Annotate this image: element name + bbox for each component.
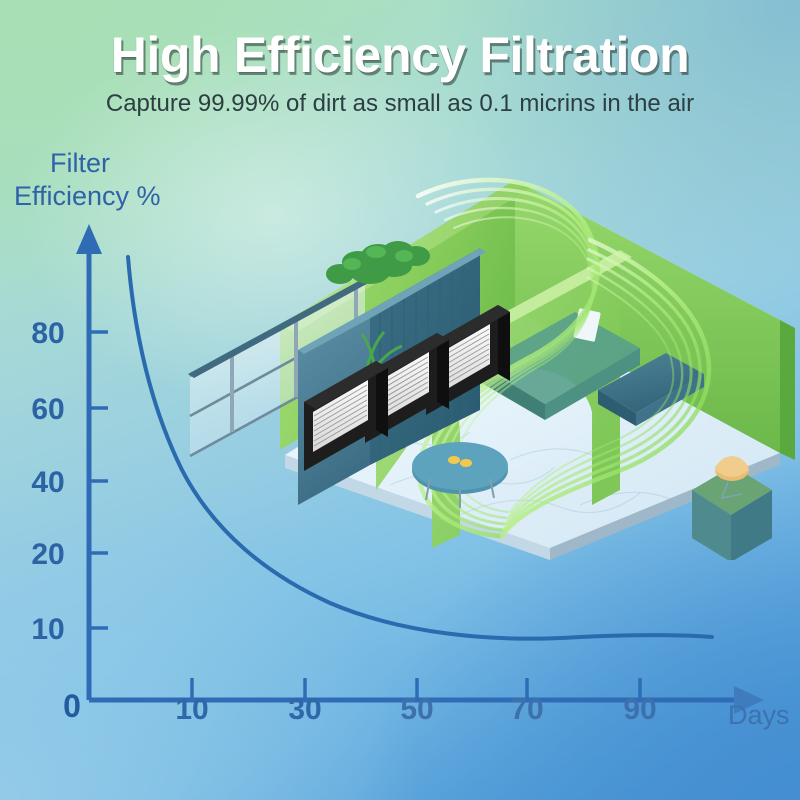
isometric-room-illustration (180, 160, 800, 560)
header: High Efficiency Filtration Capture 99.99… (0, 0, 800, 118)
page-title: High Efficiency Filtration (0, 26, 800, 84)
page-subtitle: Capture 99.99% of dirt as small as 0.1 m… (0, 90, 800, 118)
